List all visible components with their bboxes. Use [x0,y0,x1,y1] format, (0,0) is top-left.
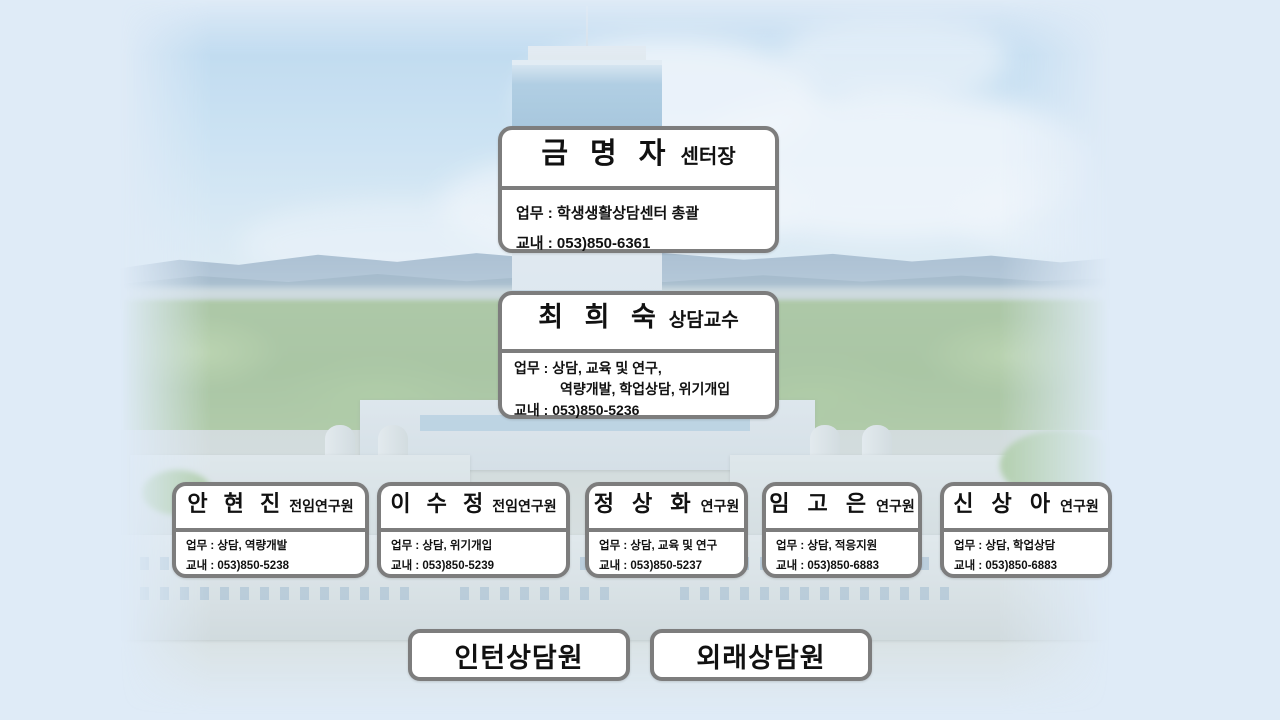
researcher-header: 신 상 아 연구원 [944,486,1108,528]
professor-details: 업무 : 상담, 교육 및 연구, 역량개발, 학업상담, 위기개입 교내 : … [502,353,775,427]
professor-name: 최 희 숙 [538,295,663,334]
researcher-title: 연구원 [876,496,915,516]
researcher-header: 정 상 화 연구원 [589,486,744,528]
director-phone: 교내 : 053)850-6361 [516,229,775,259]
org-node-intern-counselor[interactable]: 인턴상담원 [408,629,630,681]
professor-phone: 교내 : 053)850-5236 [514,400,775,421]
researcher-title: 연구원 [1060,496,1099,516]
researcher-name: 신 상 아 [953,486,1056,518]
intern-counselor-label: 인턴상담원 [454,636,583,675]
researcher-name: 안 현 진 [187,486,285,518]
researcher-name: 임 고 은 [769,486,872,518]
researcher-name: 정 상 화 [594,486,697,518]
researcher-phone: 교내 : 053)850-6883 [776,556,918,576]
researcher-title: 연구원 [701,496,740,516]
org-node-professor[interactable]: 최 희 숙 상담교수 업무 : 상담, 교육 및 연구, 역량개발, 학업상담,… [498,291,779,419]
researcher-phone: 교내 : 053)850-5239 [391,556,566,576]
org-node-researcher-5[interactable]: 신 상 아 연구원 업무 : 상담, 학업상담 교내 : 053)850-688… [940,482,1112,578]
researcher-details: 업무 : 상담, 적응지원 교내 : 053)850-6883 [766,532,918,580]
researcher-header: 이 수 정 전임연구원 [381,486,566,528]
org-node-researcher-4[interactable]: 임 고 은 연구원 업무 : 상담, 적응지원 교내 : 053)850-688… [762,482,922,578]
professor-title: 상담교수 [669,305,739,332]
researcher-title: 전임연구원 [289,496,353,516]
org-node-researcher-1[interactable]: 안 현 진 전임연구원 업무 : 상담, 역량개발 교내 : 053)850-5… [172,482,369,578]
researcher-details: 업무 : 상담, 학업상담 교내 : 053)850-6883 [944,532,1108,580]
researcher-details: 업무 : 상담, 역량개발 교내 : 053)850-5238 [176,532,365,580]
director-title: 센터장 [680,140,735,169]
org-node-director[interactable]: 금 명 자 센터장 업무 : 학생생활상담센터 총괄 교내 : 053)850-… [498,126,779,253]
researcher-phone: 교내 : 053)850-5237 [599,556,744,576]
director-duty: 업무 : 학생생활상담센터 총괄 [516,199,775,229]
researcher-duty: 업무 : 상담, 역량개발 [186,536,365,556]
director-name: 금 명 자 [541,130,672,172]
professor-duty-line-2: 역량개발, 학업상담, 위기개입 [514,379,775,400]
external-counselor-label: 외래상담원 [696,636,825,675]
researcher-duty: 업무 : 상담, 적응지원 [776,536,918,556]
professor-duty-line-1: 업무 : 상담, 교육 및 연구, [514,358,775,379]
researcher-details: 업무 : 상담, 위기개입 교내 : 053)850-5239 [381,532,566,580]
roof-mast [586,6,588,48]
researcher-duty: 업무 : 상담, 위기개입 [391,536,566,556]
org-chart-slide: 금 명 자 센터장 업무 : 학생생활상담센터 총괄 교내 : 053)850-… [0,0,1280,720]
researcher-phone: 교내 : 053)850-5238 [186,556,365,576]
researcher-phone: 교내 : 053)850-6883 [954,556,1108,576]
researcher-title: 전임연구원 [492,496,556,516]
org-node-researcher-2[interactable]: 이 수 정 전임연구원 업무 : 상담, 위기개입 교내 : 053)850-5… [377,482,570,578]
director-details: 업무 : 학생생활상담센터 총괄 교내 : 053)850-6361 [502,190,775,265]
org-node-researcher-3[interactable]: 정 상 화 연구원 업무 : 상담, 교육 및 연구 교내 : 053)850-… [585,482,748,578]
org-node-external-counselor[interactable]: 외래상담원 [650,629,872,681]
researcher-duty: 업무 : 상담, 교육 및 연구 [599,536,744,556]
professor-header: 최 희 숙 상담교수 [502,295,775,349]
researcher-details: 업무 : 상담, 교육 및 연구 교내 : 053)850-5237 [589,532,744,580]
researcher-name: 이 수 정 [390,486,488,518]
researcher-header: 임 고 은 연구원 [766,486,918,528]
cloud [780,10,1010,105]
researcher-duty: 업무 : 상담, 학업상담 [954,536,1108,556]
director-header: 금 명 자 센터장 [502,130,775,186]
researcher-header: 안 현 진 전임연구원 [176,486,365,528]
